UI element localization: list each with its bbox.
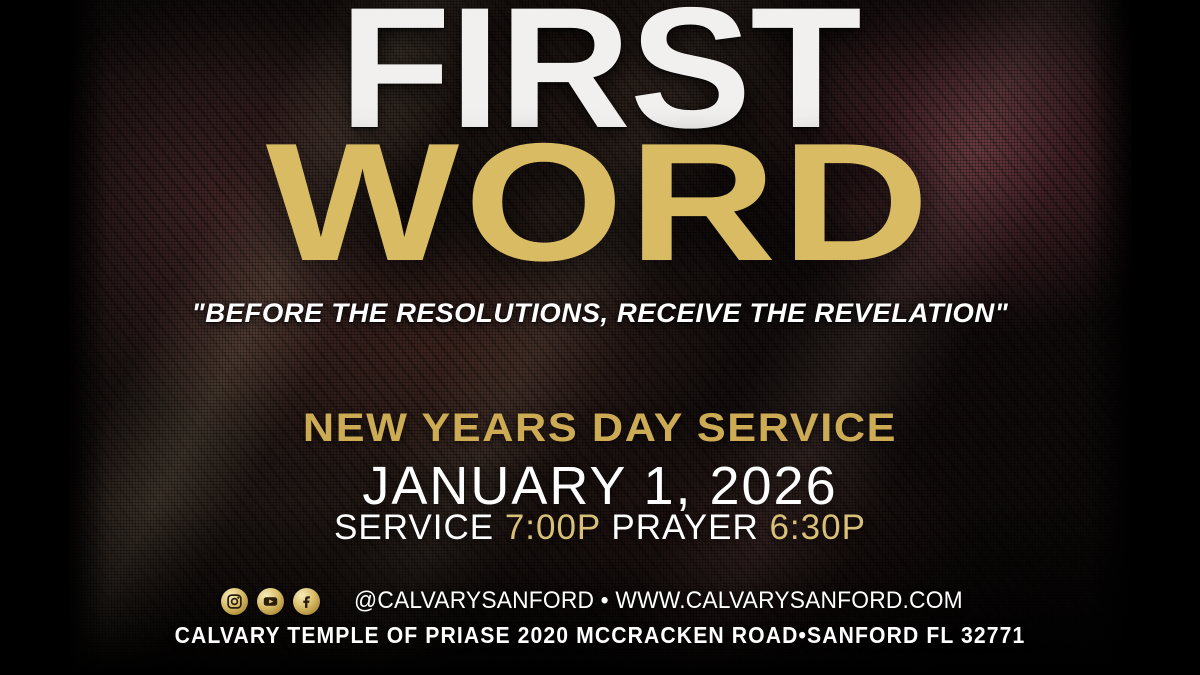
instagram-icon[interactable] — [221, 588, 248, 615]
social-handle-and-website[interactable]: @CALVARYSANFORD • WWW.CALVARYSANFORD.COM — [354, 587, 963, 615]
prayer-time-value: 6:30P — [769, 508, 865, 547]
title-word: WORD — [0, 118, 1200, 286]
youtube-icon[interactable] — [257, 588, 284, 615]
tagline: "BEFORE THE RESOLUTIONS, RECEIVE THE REV… — [0, 298, 1200, 329]
service-heading: NEW YEARS DAY SERVICE — [0, 406, 1200, 451]
service-time-label: SERVICE — [334, 508, 494, 547]
flyer-canvas: FIRST WORD "BEFORE THE RESOLUTIONS, RECE… — [0, 0, 1200, 675]
service-time-value: 7:00P — [505, 508, 601, 547]
facebook-icon[interactable] — [293, 588, 320, 615]
prayer-time-label: PRAYER — [611, 508, 758, 547]
social-row: @CALVARYSANFORD • WWW.CALVARYSANFORD.COM — [0, 587, 1200, 615]
church-address: CALVARY TEMPLE OF PRIASE 2020 MCCRACKEN … — [48, 622, 1152, 649]
flyer-content: FIRST WORD "BEFORE THE RESOLUTIONS, RECE… — [0, 0, 1200, 675]
service-times: SERVICE 7:00P PRAYER 6:30P — [0, 508, 1200, 548]
